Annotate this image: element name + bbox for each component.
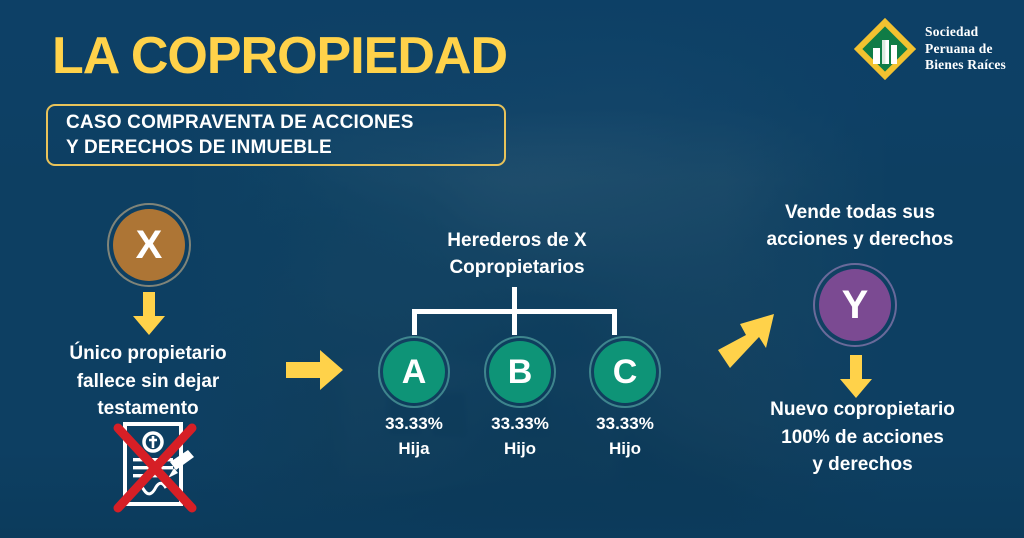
logo-line-1: Sociedad: [925, 24, 1006, 41]
heirs-heading-line-2: Copropietarios: [392, 255, 642, 282]
heir-relation: Hijo: [465, 437, 575, 462]
heir-node-c[interactable]: C: [594, 341, 656, 403]
heir-percent: 33.33%: [359, 412, 469, 437]
buyer-new-line-2: 100% de acciones: [730, 424, 995, 452]
page-title: LA COPROPIEDAD: [52, 30, 507, 82]
subtitle-box: CASO COMPRAVENTA DE ACCIONES Y DERECHOS …: [46, 104, 506, 166]
buyer-new-line-3: y derechos: [730, 451, 995, 479]
subtitle-text: CASO COMPRAVENTA DE ACCIONES Y DERECHOS …: [66, 110, 414, 161]
subtitle-line-2: Y DERECHOS DE INMUEBLE: [66, 135, 414, 160]
heir-relation: Hijo: [570, 437, 680, 462]
owner-caption-line-2: fallece sin dejar: [28, 368, 268, 396]
heir-relation: Hija: [359, 437, 469, 462]
buyer-sell-line-1: Vende todas sus: [735, 200, 985, 227]
owner-node-x[interactable]: X: [113, 209, 185, 281]
owner-caption-line-1: Único propietario: [28, 340, 268, 368]
heirs-heading-line-1: Herederos de X: [392, 228, 642, 255]
arrow-right-icon-to-heirs: [286, 348, 344, 397]
heir-node-ring: [589, 336, 661, 408]
heir-node-ring: [378, 336, 450, 408]
buyer-sell-caption: Vende todas sus acciones y derechos: [735, 200, 985, 254]
heirs-bracket-connector: [412, 287, 617, 335]
owner-node-ring: [107, 203, 191, 287]
buyer-new-owner-caption: Nuevo copropietario 100% de acciones y d…: [730, 396, 995, 479]
logo-line-2: Peruana de: [925, 41, 1006, 58]
logo-text: Sociedad Peruana de Bienes Raíces: [925, 24, 1006, 75]
buyer-node-ring: [813, 263, 897, 347]
arrow-diagonal-up-right-icon: [716, 310, 782, 377]
heir-node-ring: [484, 336, 556, 408]
diamond-buildings-icon: [854, 18, 916, 80]
brand-logo[interactable]: Sociedad Peruana de Bienes Raíces: [854, 18, 1006, 80]
arrow-down-icon-owner: [131, 292, 167, 341]
no-testament-icon: [108, 418, 202, 518]
heir-share-c: 33.33% Hijo: [570, 412, 680, 461]
infographic-canvas: LA COPROPIEDAD CASO COMPRAVENTA DE ACCIO…: [0, 0, 1024, 538]
logo-line-3: Bienes Raíces: [925, 57, 1006, 74]
heir-node-a[interactable]: A: [383, 341, 445, 403]
buyer-sell-line-2: acciones y derechos: [735, 227, 985, 254]
heir-percent: 33.33%: [570, 412, 680, 437]
heirs-heading: Herederos de X Copropietarios: [392, 228, 642, 282]
heir-node-b[interactable]: B: [489, 341, 551, 403]
buyer-new-line-1: Nuevo copropietario: [730, 396, 995, 424]
owner-caption: Único propietario fallece sin dejar test…: [28, 340, 268, 423]
heir-share-b: 33.33% Hijo: [465, 412, 575, 461]
heir-percent: 33.33%: [465, 412, 575, 437]
buyer-node-y[interactable]: Y: [819, 269, 891, 341]
subtitle-line-1: CASO COMPRAVENTA DE ACCIONES: [66, 110, 414, 135]
heir-share-a: 33.33% Hija: [359, 412, 469, 461]
